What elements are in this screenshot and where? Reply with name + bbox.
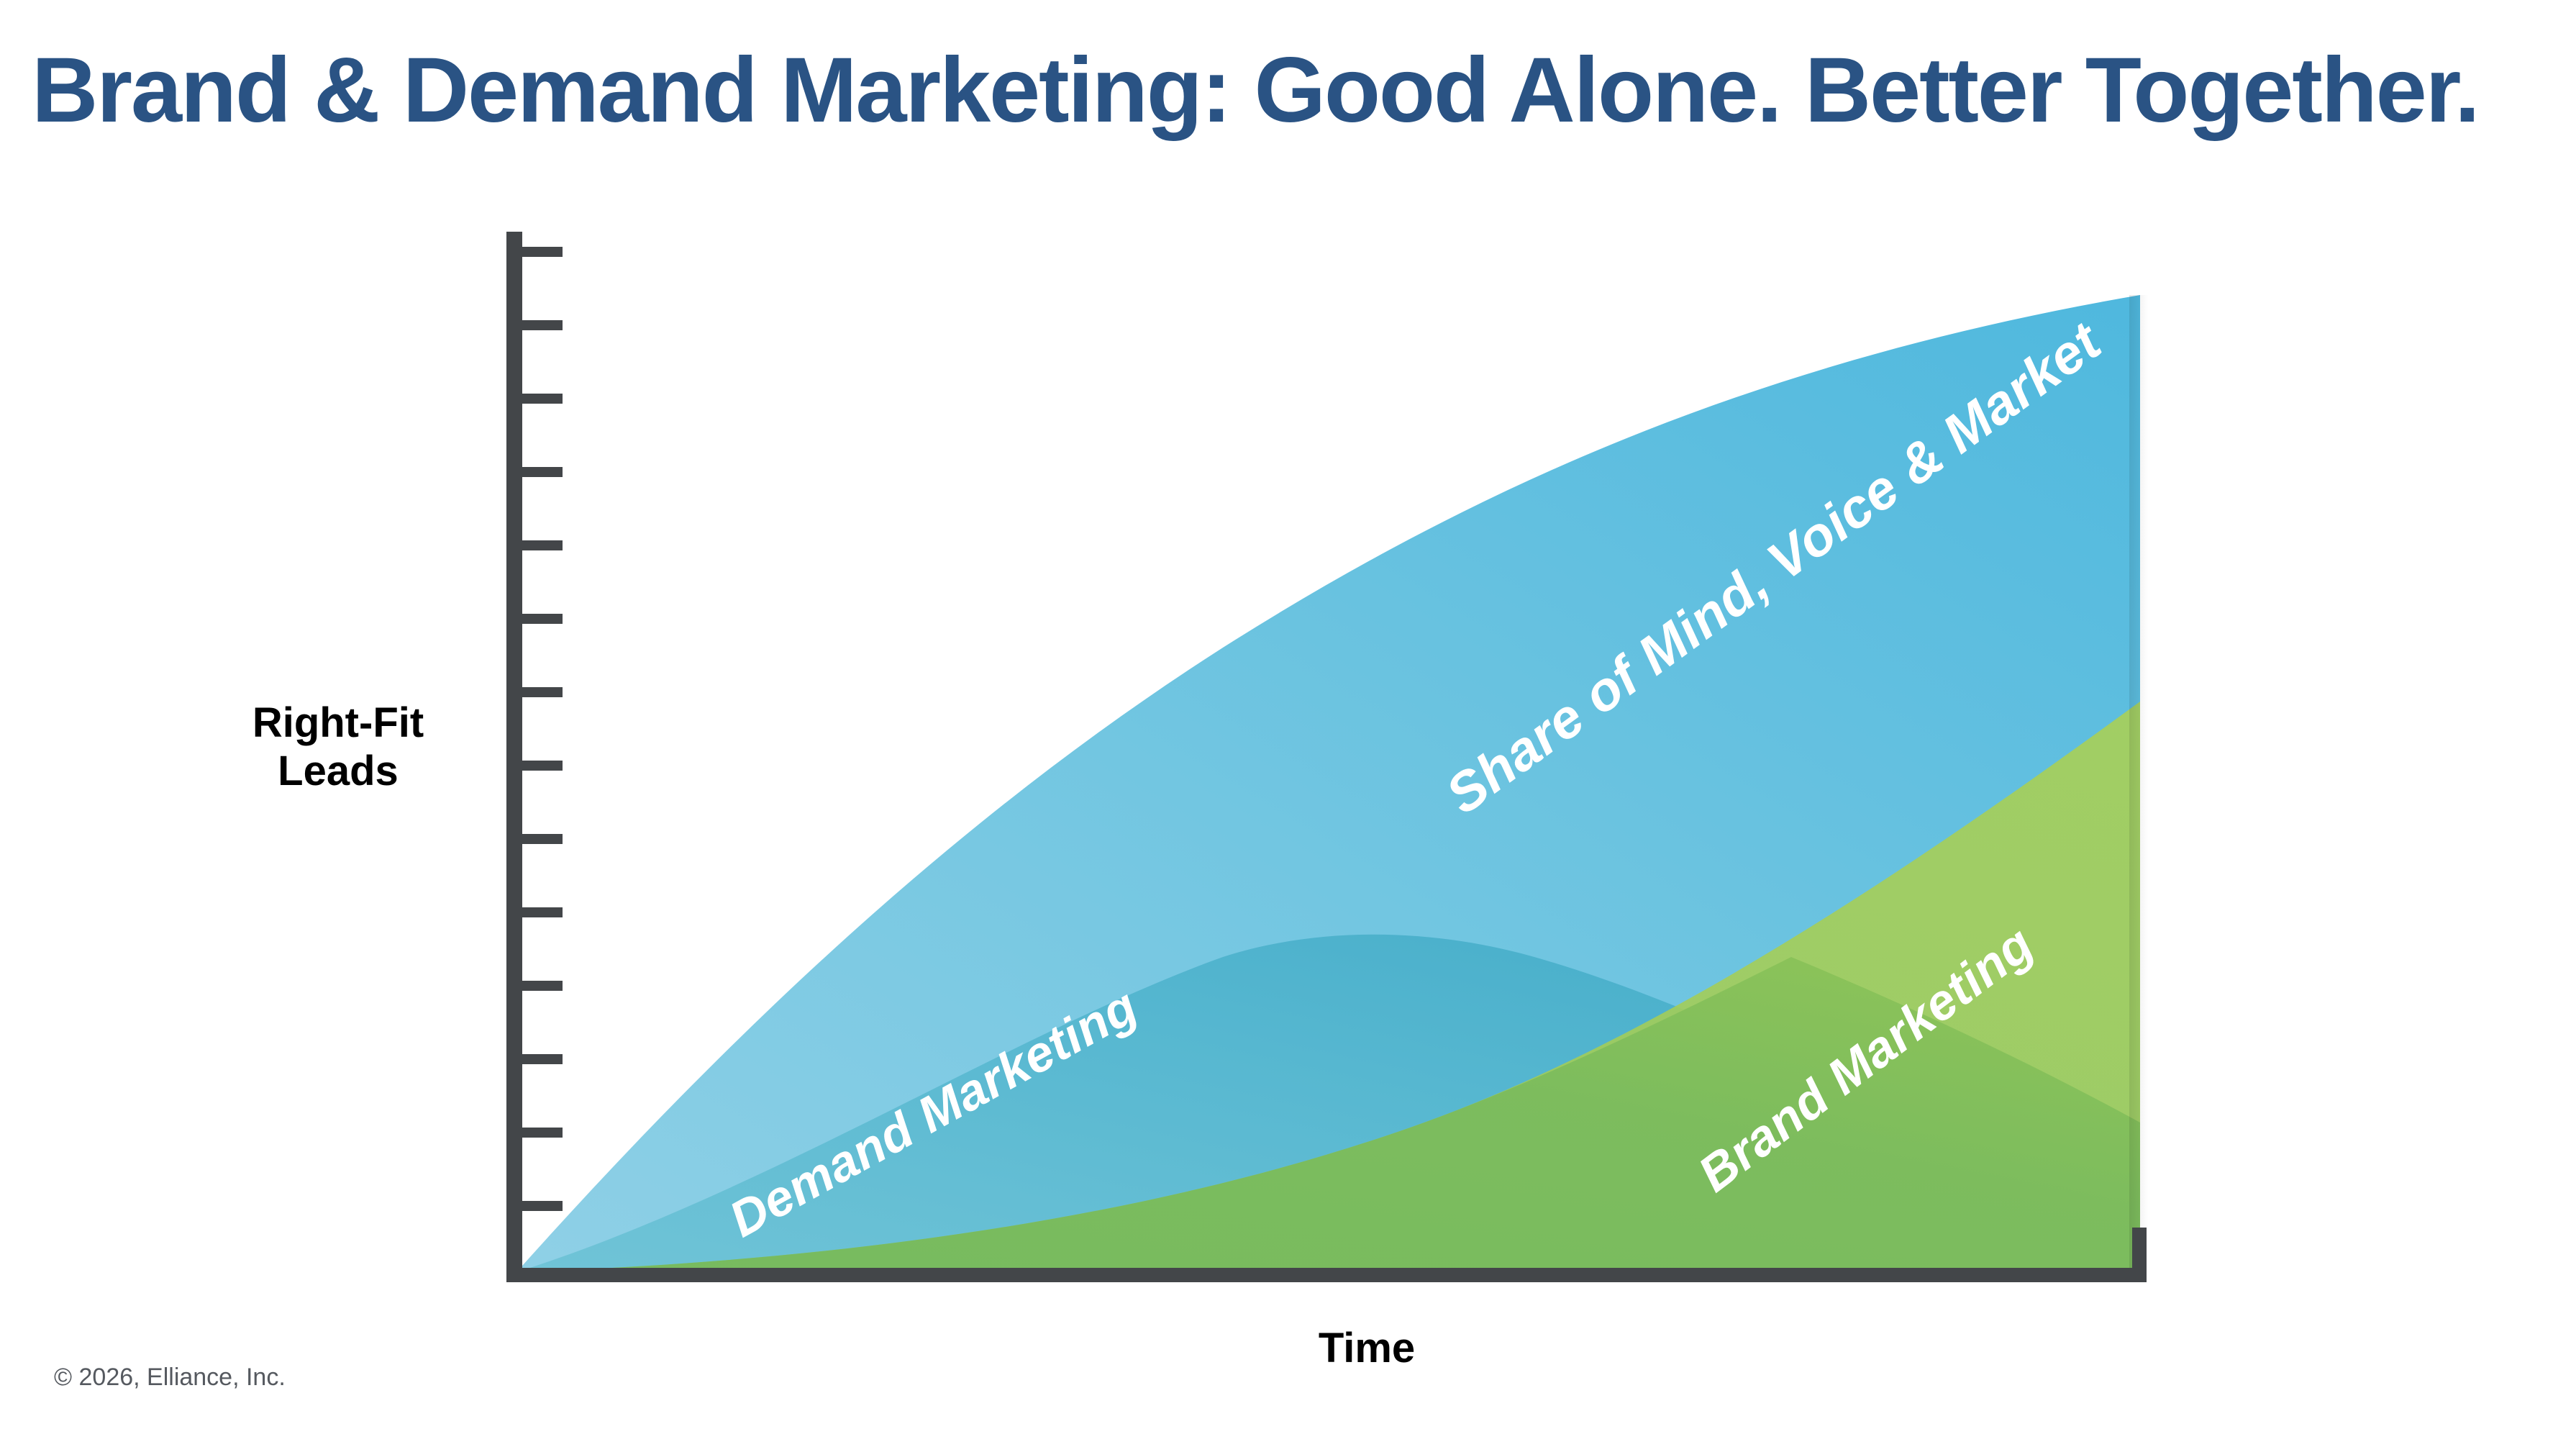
y-axis-tick bbox=[522, 761, 563, 771]
y-axis-tick bbox=[522, 1128, 563, 1138]
y-axis-tick bbox=[522, 1201, 563, 1211]
y-axis-tick bbox=[522, 834, 563, 844]
y-axis-title: Right-Fit Leads bbox=[216, 699, 460, 795]
x-axis-end-cap bbox=[2132, 1228, 2147, 1282]
copyright-notice: © 2026, Elliance, Inc. bbox=[54, 1364, 286, 1392]
y-axis-tick bbox=[522, 320, 563, 330]
area-chart: Share of Mind, Voice & Market Demand Mar… bbox=[0, 0, 2576, 1447]
x-axis-line bbox=[506, 1268, 2147, 1282]
y-axis-tick bbox=[522, 540, 563, 550]
x-axis-title: Time bbox=[1165, 1324, 1568, 1372]
y-axis-tick bbox=[522, 467, 563, 477]
slide-canvas: Brand & Demand Marketing: Good Alone. Be… bbox=[0, 0, 2576, 1447]
y-axis-tick bbox=[522, 614, 563, 624]
y-axis-tick bbox=[522, 907, 563, 917]
chart-right-edge-shadow bbox=[2129, 295, 2148, 1272]
y-axis-tick bbox=[522, 394, 563, 404]
y-axis-tick bbox=[522, 1054, 563, 1064]
y-axis-tick bbox=[522, 981, 563, 991]
y-axis-line bbox=[506, 232, 522, 1276]
y-axis-tick bbox=[522, 687, 563, 697]
y-axis-tick bbox=[522, 247, 563, 257]
y-axis-ticks bbox=[522, 247, 563, 1211]
